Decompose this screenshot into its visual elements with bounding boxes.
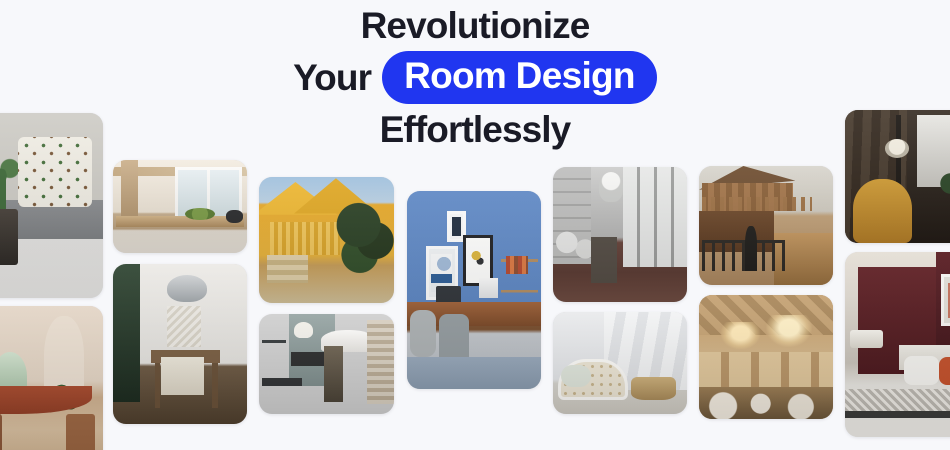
photo-dark-room-egg-chair	[845, 110, 950, 243]
image-gallery	[0, 0, 950, 450]
gallery-card[interactable]	[845, 252, 950, 437]
photo-bright-wood-dining	[113, 160, 247, 253]
photo-bw-conservatory-corridor	[553, 167, 687, 302]
gallery-card[interactable]	[0, 113, 103, 298]
gallery-card[interactable]	[407, 191, 541, 389]
gallery-card[interactable]	[553, 167, 687, 302]
photo-boho-hammock-room	[0, 306, 103, 450]
photo-yellow-craftsman-house	[259, 177, 394, 303]
gallery-card[interactable]	[259, 314, 394, 414]
gallery-card[interactable]	[0, 306, 103, 450]
gallery-card[interactable]	[113, 160, 247, 253]
photo-cactus-pillow-sofa	[0, 113, 103, 298]
photo-wooden-chalet-balcony	[699, 166, 833, 285]
gallery-card[interactable]	[699, 295, 833, 419]
gallery-card[interactable]	[113, 264, 247, 424]
photo-white-antique-settee	[553, 312, 687, 414]
gallery-card[interactable]	[699, 166, 833, 285]
gallery-card[interactable]	[259, 177, 394, 303]
photo-grand-ballroom-chandeliers	[699, 295, 833, 419]
photo-grey-blue-living-room	[259, 314, 394, 414]
photo-macrame-dining-nook	[113, 264, 247, 424]
photo-maroon-hotel-bedroom	[845, 252, 950, 437]
gallery-card[interactable]	[845, 110, 950, 243]
gallery-card[interactable]	[553, 312, 687, 414]
photo-blue-wall-home-office	[407, 191, 541, 389]
